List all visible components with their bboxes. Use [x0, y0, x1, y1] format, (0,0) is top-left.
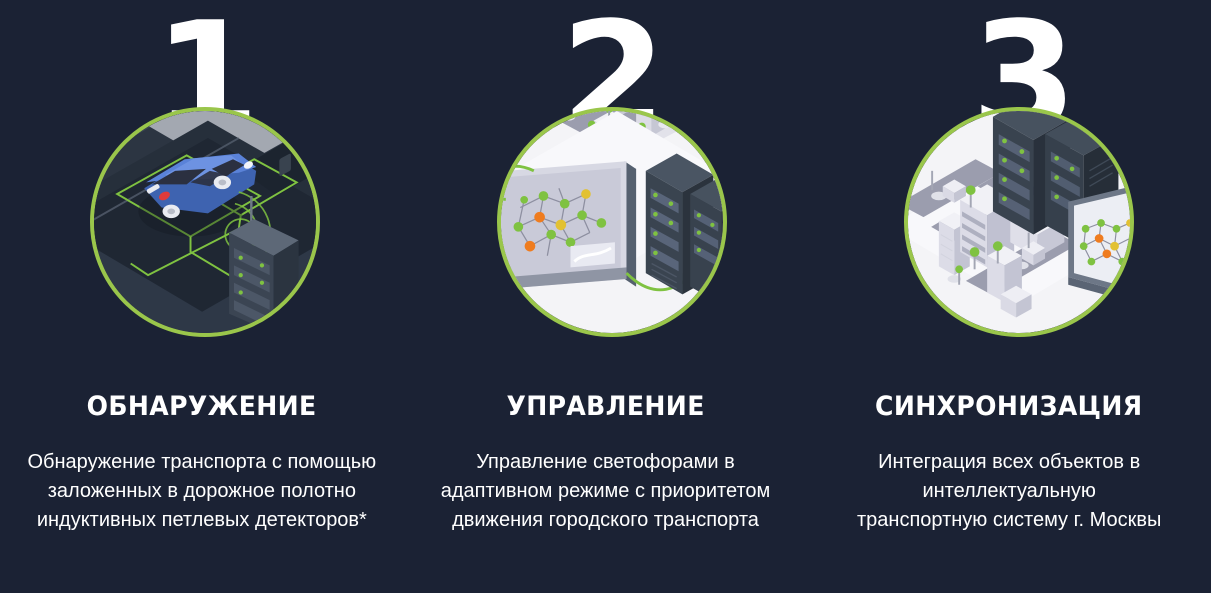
step-title-3: СИНХРОНИЗАЦИЯ: [875, 393, 1142, 420]
process-steps-row: 1: [0, 0, 1211, 593]
step-title-2: УПРАВЛЕНИЕ: [506, 393, 704, 420]
city-integration-illustration: [904, 107, 1134, 337]
step-card-1: 1: [0, 0, 404, 593]
step-description-3: Интеграция всех объектов в интеллектуаль…: [807, 448, 1211, 535]
step-description-1: Обнаружение транспорта с помощью заложен…: [0, 448, 404, 535]
traffic-control-center-illustration: [497, 107, 727, 337]
step-description-2: Управление светофорами в адаптивном режи…: [404, 448, 808, 535]
step-title-1: ОБНАРУЖЕНИЕ: [87, 393, 317, 420]
car-loop-detector-illustration: [90, 107, 320, 337]
step-card-3: 3: [807, 0, 1211, 593]
step-card-2: 2: [404, 0, 808, 593]
